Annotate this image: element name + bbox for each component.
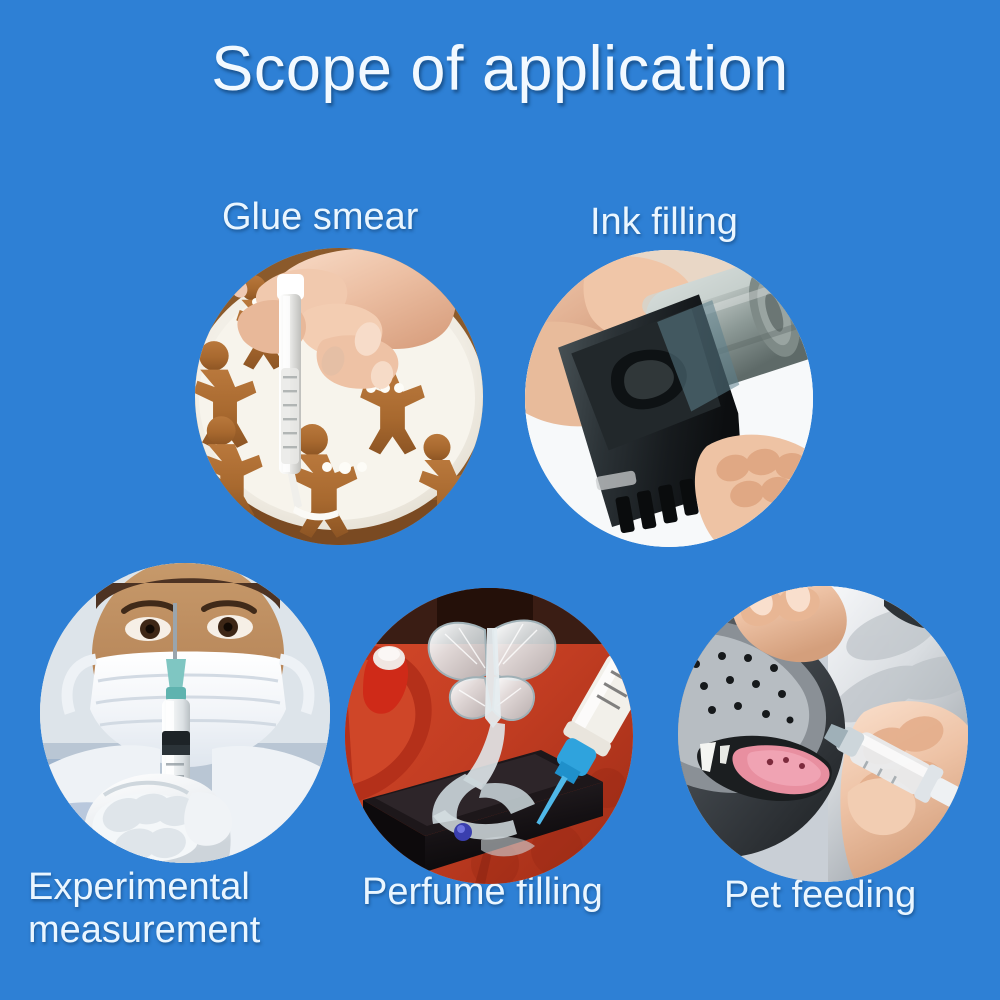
photo-perfume-filling xyxy=(345,588,633,884)
label-glue-smear: Glue smear xyxy=(222,196,418,239)
label-experimental-measurement: Experimental measurement xyxy=(28,866,260,951)
glue-smear-illustration xyxy=(195,248,483,545)
experimental-measurement-illustration xyxy=(40,563,330,863)
page-title: Scope of application xyxy=(0,36,1000,102)
photo-experimental-measurement xyxy=(40,563,330,863)
label-ink-filling: Ink filling xyxy=(590,201,738,244)
photo-glue-smear xyxy=(195,248,483,545)
poster-canvas: Scope of application Glue smear xyxy=(0,0,1000,1000)
perfume-filling-illustration xyxy=(345,588,633,884)
photo-pet-feeding xyxy=(678,586,968,882)
pet-feeding-illustration xyxy=(678,586,968,882)
photo-ink-filling xyxy=(525,250,813,547)
ink-filling-illustration xyxy=(525,250,813,547)
